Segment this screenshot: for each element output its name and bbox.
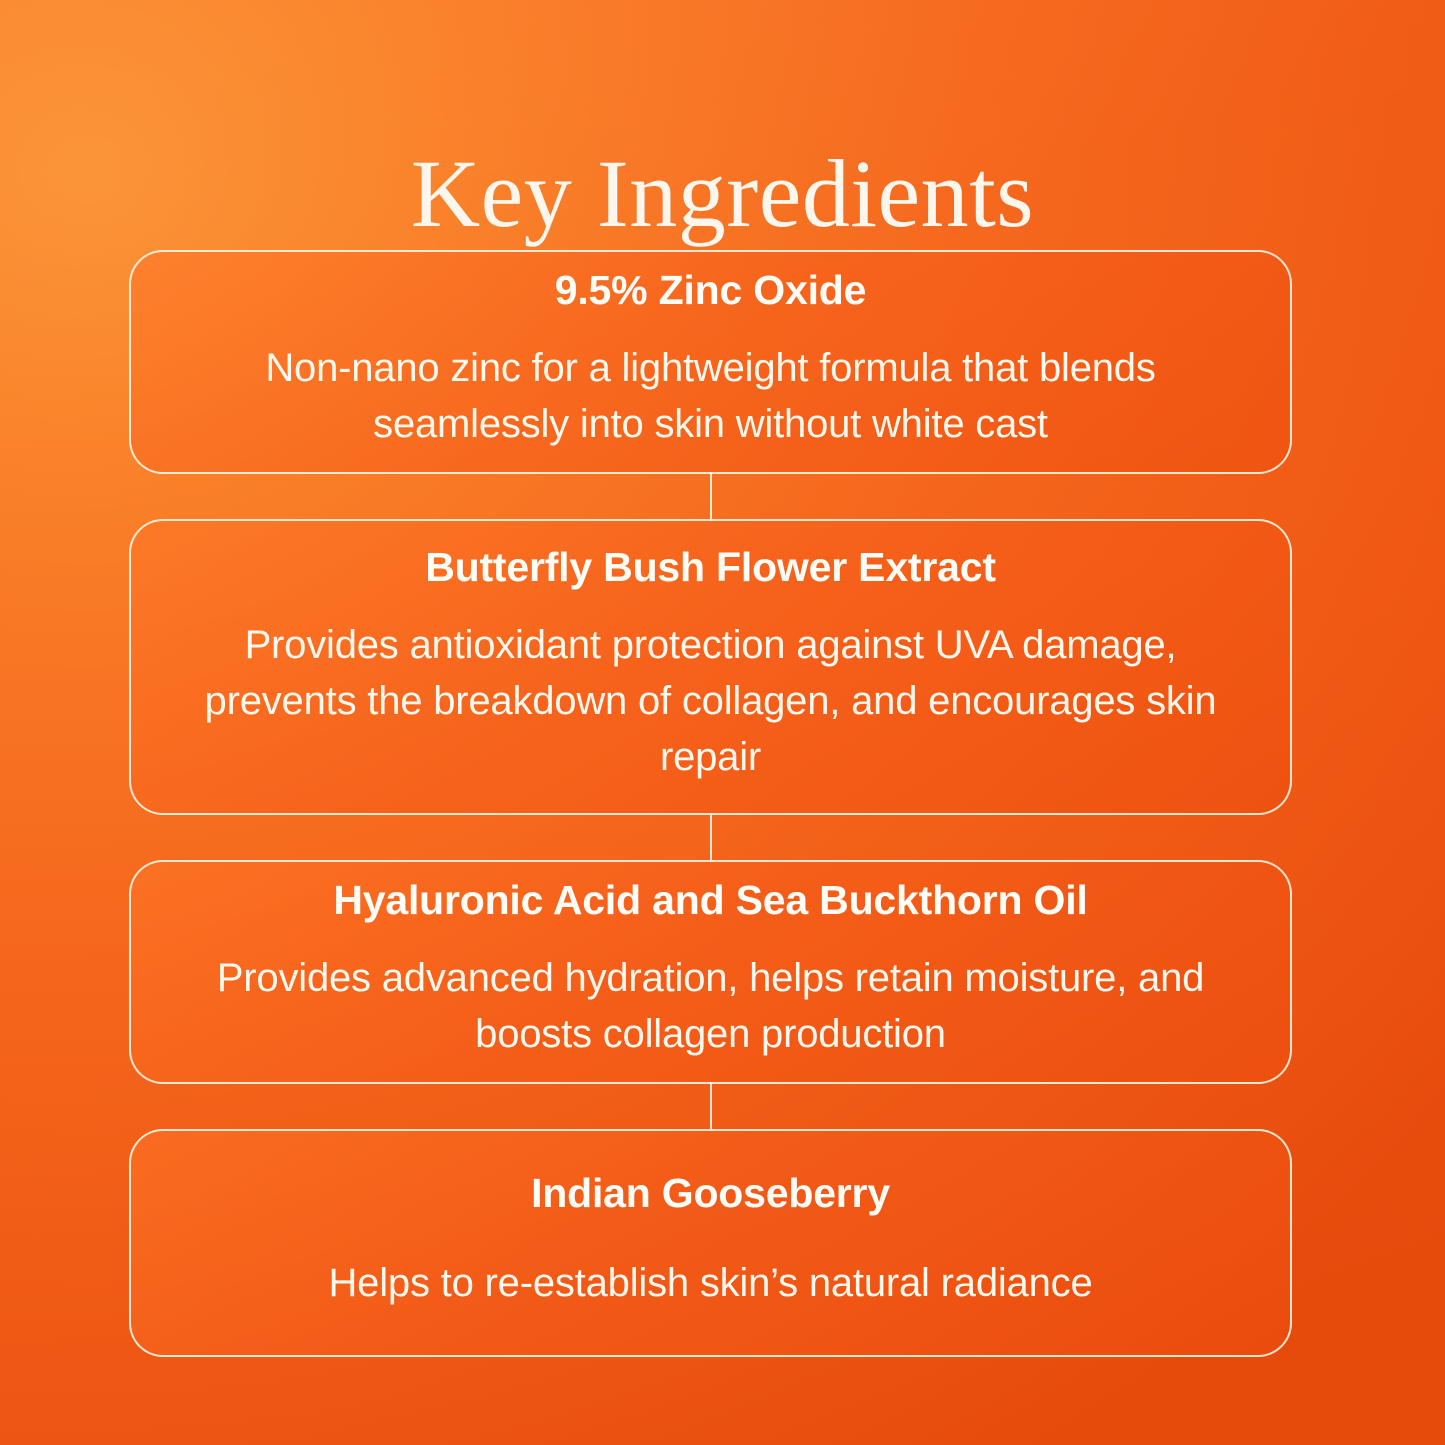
ingredient-description: Provides antioxidant protection against … [201,617,1221,785]
ingredient-description: Non-nano zinc for a lightweight formula … [201,340,1221,452]
ingredient-card-stack: 9.5% Zinc Oxide Non-nano zinc for a ligh… [129,250,1292,1357]
ingredient-card-hyaluronic-acid-sea-buckthorn-oil: Hyaluronic Acid and Sea Buckthorn Oil Pr… [129,860,1292,1084]
ingredient-description: Helps to re-establish skin’s natural rad… [329,1255,1093,1311]
card-connector-line [710,472,712,519]
card-connector-line [710,1082,712,1129]
ingredient-card-butterfly-bush-flower-extract: Butterfly Bush Flower Extract Provides a… [129,519,1292,815]
ingredient-card-zinc-oxide: 9.5% Zinc Oxide Non-nano zinc for a ligh… [129,250,1292,474]
ingredient-title: Indian Gooseberry [531,1171,890,1217]
ingredient-card-indian-gooseberry: Indian Gooseberry Helps to re-establish … [129,1129,1292,1357]
key-ingredients-poster: Key Ingredients 9.5% Zinc Oxide Non-nano… [0,0,1445,1445]
ingredient-title: Butterfly Bush Flower Extract [425,545,996,591]
page-title: Key Ingredients [0,142,1445,246]
card-connector-line [710,813,712,860]
ingredient-title: 9.5% Zinc Oxide [555,268,866,314]
ingredient-title: Hyaluronic Acid and Sea Buckthorn Oil [333,878,1087,924]
ingredient-description: Provides advanced hydration, helps retai… [201,950,1221,1062]
